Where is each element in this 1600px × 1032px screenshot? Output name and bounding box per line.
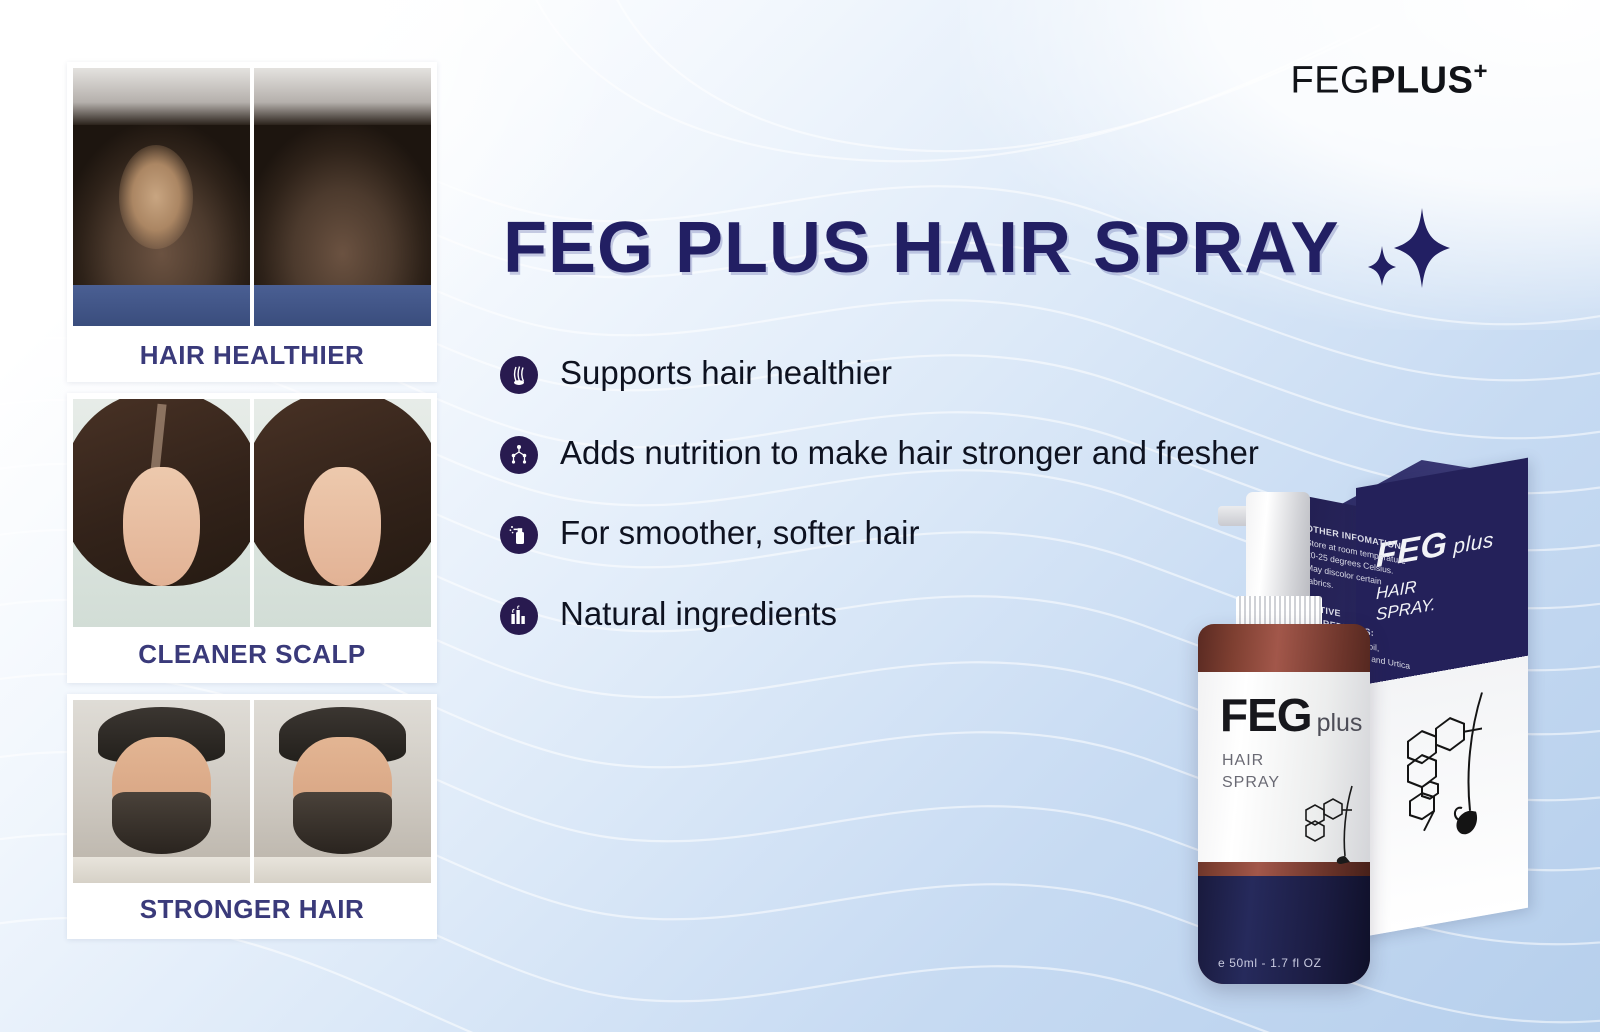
bottle-line-2: SPRAY xyxy=(1222,772,1280,794)
nutrition-molecule-icon xyxy=(500,436,538,474)
brand-logo: FEGPLUS+ xyxy=(1291,58,1489,103)
result-card-caption: CLEANER SCALP xyxy=(67,627,437,683)
feature-text: Adds nutrition to make hair stronger and… xyxy=(560,432,1259,474)
result-card-hair-healthier: HAIR HEALTHIER xyxy=(67,62,437,382)
feature-item: Natural ingredients xyxy=(500,593,1260,635)
bottle-follicle-molecule-graphic xyxy=(1300,784,1362,864)
feature-item: Adds nutrition to make hair stronger and… xyxy=(500,432,1260,474)
feature-item: For smoother, softer hair xyxy=(500,512,1260,554)
result-card-cleaner-scalp: CLEANER SCALP xyxy=(67,393,437,683)
before-woman-scalp-photo xyxy=(73,399,250,627)
box-brand-suffix: plus xyxy=(1453,528,1494,558)
before-after-photo-pair xyxy=(73,399,431,627)
after-scalp-fuller-photo xyxy=(254,68,431,326)
after-man-hair-photo xyxy=(254,700,431,883)
hair-follicle-icon xyxy=(500,356,538,394)
sparkle-icon xyxy=(1360,206,1452,290)
bottle-cap xyxy=(1246,492,1310,610)
page-title-text: FEG PLUS HAIR SPRAY xyxy=(503,207,1340,289)
logo-plus: PLUS xyxy=(1370,60,1473,102)
bottle-label: FEGplus HAIR SPRAY xyxy=(1198,672,1370,862)
result-card-caption: HAIR HEALTHIER xyxy=(67,326,437,382)
spray-bottle-icon xyxy=(500,516,538,554)
feature-list: Supports hair healthier Adds nutrition t… xyxy=(500,352,1260,673)
before-scalp-thinning-photo xyxy=(73,68,250,326)
result-card-stronger-hair: STRONGER HAIR xyxy=(67,694,437,939)
bottle-brand-name: FEG xyxy=(1220,689,1312,741)
bottle-brand-suffix: plus xyxy=(1317,709,1363,737)
page-title: FEG PLUS HAIR SPRAY xyxy=(503,206,1452,290)
follicle-molecule-graphic xyxy=(1396,680,1506,849)
feature-text: For smoother, softer hair xyxy=(560,512,919,554)
feature-text: Supports hair healthier xyxy=(560,352,892,394)
bottle-volume-text: e 50ml - 1.7 fl OZ xyxy=(1218,956,1322,970)
before-man-hairline-photo xyxy=(73,700,250,883)
bottle-line-1: HAIR xyxy=(1222,750,1280,772)
logo-plus-superscript: + xyxy=(1473,58,1488,85)
result-card-caption: STRONGER HAIR xyxy=(67,883,437,939)
spray-bottle: FEGplus HAIR SPRAY e 50m xyxy=(1188,492,1384,992)
bottle-body: FEGplus HAIR SPRAY e 50m xyxy=(1198,624,1370,984)
logo-feg: FEG xyxy=(1291,60,1371,102)
natural-ingredients-icon xyxy=(500,597,538,635)
bottle-bottom-band: e 50ml - 1.7 fl OZ xyxy=(1198,876,1370,984)
feature-item: Supports hair healthier xyxy=(500,352,1260,394)
before-after-photo-pair xyxy=(73,700,431,883)
product-image: FEGplus HAIR SPRAY. OTHER INFOMATION Sto… xyxy=(1160,440,1600,1032)
after-woman-hair-photo xyxy=(254,399,431,627)
feature-text: Natural ingredients xyxy=(560,593,837,635)
before-after-photo-pair xyxy=(73,68,431,326)
